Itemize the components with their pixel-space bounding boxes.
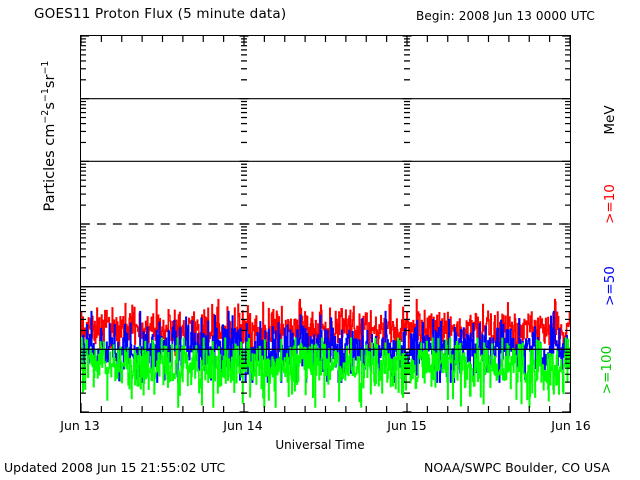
- x-tick-label-2: Jun 15: [372, 418, 442, 433]
- plot-inner: [81, 36, 570, 412]
- x-tick-label-0: Jun 13: [45, 418, 115, 433]
- axis-ticks: [81, 36, 570, 412]
- right-axis-unit-label: MeV: [602, 75, 618, 165]
- plot-area: [80, 35, 571, 413]
- x-axis-title: Universal Time: [0, 438, 640, 452]
- legend-label-ge50: >=50: [602, 241, 618, 331]
- begin-time-label: Begin: 2008 Jun 13 0000 UTC: [416, 9, 595, 23]
- goes-proton-flux-plot: GOES11 Proton Flux (5 minute data) Begin…: [0, 0, 640, 480]
- page-title: GOES11 Proton Flux (5 minute data): [34, 6, 286, 22]
- source-attribution: NOAA/SWPC Boulder, CO USA: [424, 460, 610, 475]
- x-tick-label-1: Jun 14: [208, 418, 278, 433]
- y-axis-title-text: Particles cm−2s−1sr−1: [42, 61, 58, 212]
- y-axis-title: Particles cm−2s−1sr−1: [42, 0, 58, 286]
- updated-timestamp: Updated 2008 Jun 15 21:55:02 UTC: [4, 460, 225, 475]
- x-tick-label-3: Jun 16: [536, 418, 606, 433]
- legend-label-ge10: >=10: [602, 159, 618, 249]
- legend-label-ge100: >=100: [599, 325, 615, 415]
